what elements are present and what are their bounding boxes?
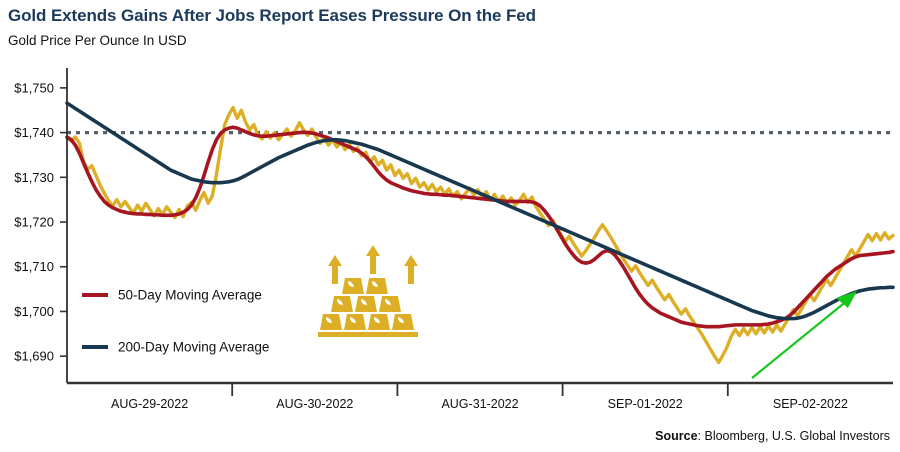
y-axis-tick-label: $1,690: [14, 349, 54, 364]
y-axis-tick-label: $1,740: [14, 125, 54, 140]
y-axis-tick-label: $1,700: [14, 304, 54, 319]
chart-legend: 50-Day Moving Average200-Day Moving Aver…: [82, 288, 269, 355]
legend-label: 200-Day Moving Average: [118, 340, 269, 355]
y-axis-tick-label: $1,750: [14, 80, 54, 95]
y-axis-tick-label: $1,720: [14, 215, 54, 230]
x-axis-tick-label: AUG-29-2022: [111, 397, 188, 411]
chart-svg: $1,690$1,700$1,710$1,720$1,730$1,740$1,7…: [0, 0, 900, 452]
gold-bars-stack-icon: [318, 245, 418, 337]
chart-page: Gold Extends Gains After Jobs Report Eas…: [0, 0, 900, 452]
x-axis-tick-label: SEP-02-2022: [773, 397, 848, 411]
x-axis-tick-label: SEP-01-2022: [608, 397, 683, 411]
source-text: : Bloomberg, U.S. Global Investors: [698, 429, 890, 443]
gold-up-arrow-icon: [328, 255, 342, 284]
x-axis-tick-label: AUG-31-2022: [441, 397, 518, 411]
gold-up-arrow-icon: [404, 255, 418, 284]
gold-up-arrow-icon: [366, 245, 380, 274]
source-note: Source: Bloomberg, U.S. Global Investors: [655, 429, 890, 443]
series-line-200-day-moving-average: [67, 103, 893, 319]
gold-bar-base: [318, 332, 418, 337]
y-axis-tick-label: $1,710: [14, 259, 54, 274]
trend-arrow-head: [836, 291, 857, 308]
source-label: Source: [655, 429, 697, 443]
legend-label: 50-Day Moving Average: [118, 288, 262, 303]
x-axis-tick-label: AUG-30-2022: [276, 397, 353, 411]
y-axis-tick-label: $1,730: [14, 170, 54, 185]
chart-plot-area: $1,690$1,700$1,710$1,720$1,730$1,740$1,7…: [0, 0, 900, 452]
